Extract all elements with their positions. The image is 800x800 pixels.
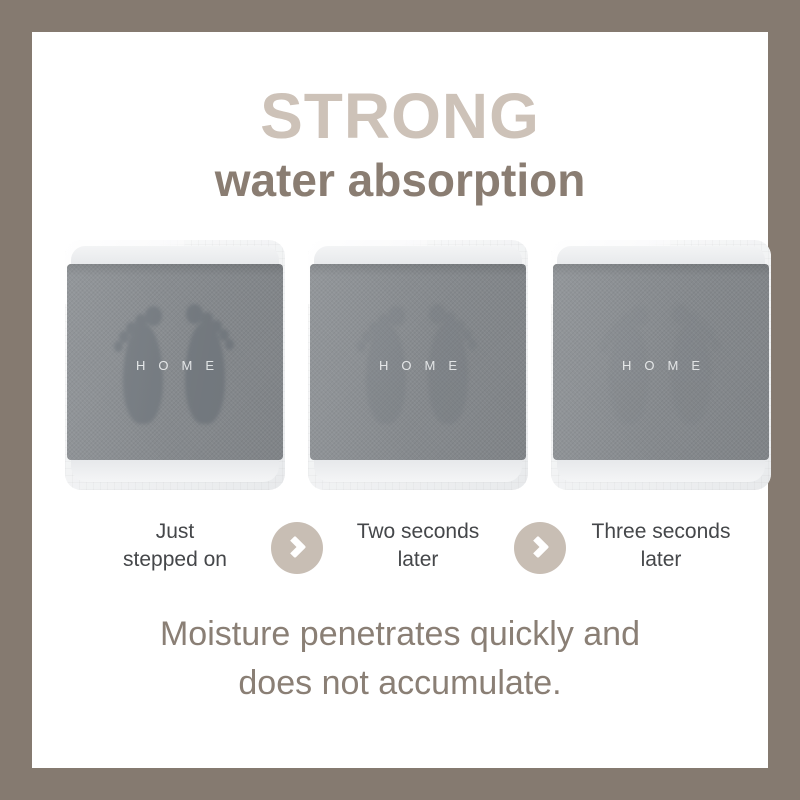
footer-line-1: Moisture penetrates quickly and [32, 610, 768, 659]
arrow-slot-1 [285, 502, 308, 574]
caption-three-seconds-later: Three seconds later [551, 502, 771, 575]
caption-line-1: Two seconds [308, 518, 528, 546]
caption-row: Just stepped on Two seconds later Three … [65, 502, 771, 594]
bath-mat: HOME [310, 264, 526, 460]
chevron-right-glyph [526, 536, 549, 559]
mat-wordmark: HOME [553, 358, 769, 373]
mat-wordmark: HOME [67, 358, 283, 373]
mat-panel-three-seconds-later: HOME [551, 240, 771, 490]
caption-line-1: Just [65, 518, 285, 546]
footer-tagline: Moisture penetrates quickly and does not… [32, 610, 768, 709]
mat-panel-two-seconds-later: HOME [308, 240, 528, 490]
chevron-right-icon [514, 522, 566, 574]
caption-line-2: stepped on [65, 546, 285, 574]
bath-mat: HOME [553, 264, 769, 460]
caption-two-seconds-later: Two seconds later [308, 502, 528, 575]
mat-wordmark: HOME [310, 358, 526, 373]
headline-block: STRONG water absorption [32, 32, 768, 210]
headline-strong: STRONG [32, 84, 768, 148]
caption-line-2: later [551, 546, 771, 574]
mat-panel-row: HOME [65, 240, 771, 490]
bath-mat: HOME [67, 264, 283, 460]
arrow-slot-2 [528, 502, 551, 574]
headline-subtitle: water absorption [32, 152, 768, 210]
footer-line-2: does not accumulate. [32, 659, 768, 708]
chevron-right-glyph [283, 536, 306, 559]
caption-line-1: Three seconds [551, 518, 771, 546]
caption-line-2: later [308, 546, 528, 574]
chevron-right-icon [271, 522, 323, 574]
product-infographic-card: STRONG water absorption [32, 32, 768, 768]
caption-just-stepped-on: Just stepped on [65, 502, 285, 575]
mat-panel-just-stepped-on: HOME [65, 240, 285, 490]
